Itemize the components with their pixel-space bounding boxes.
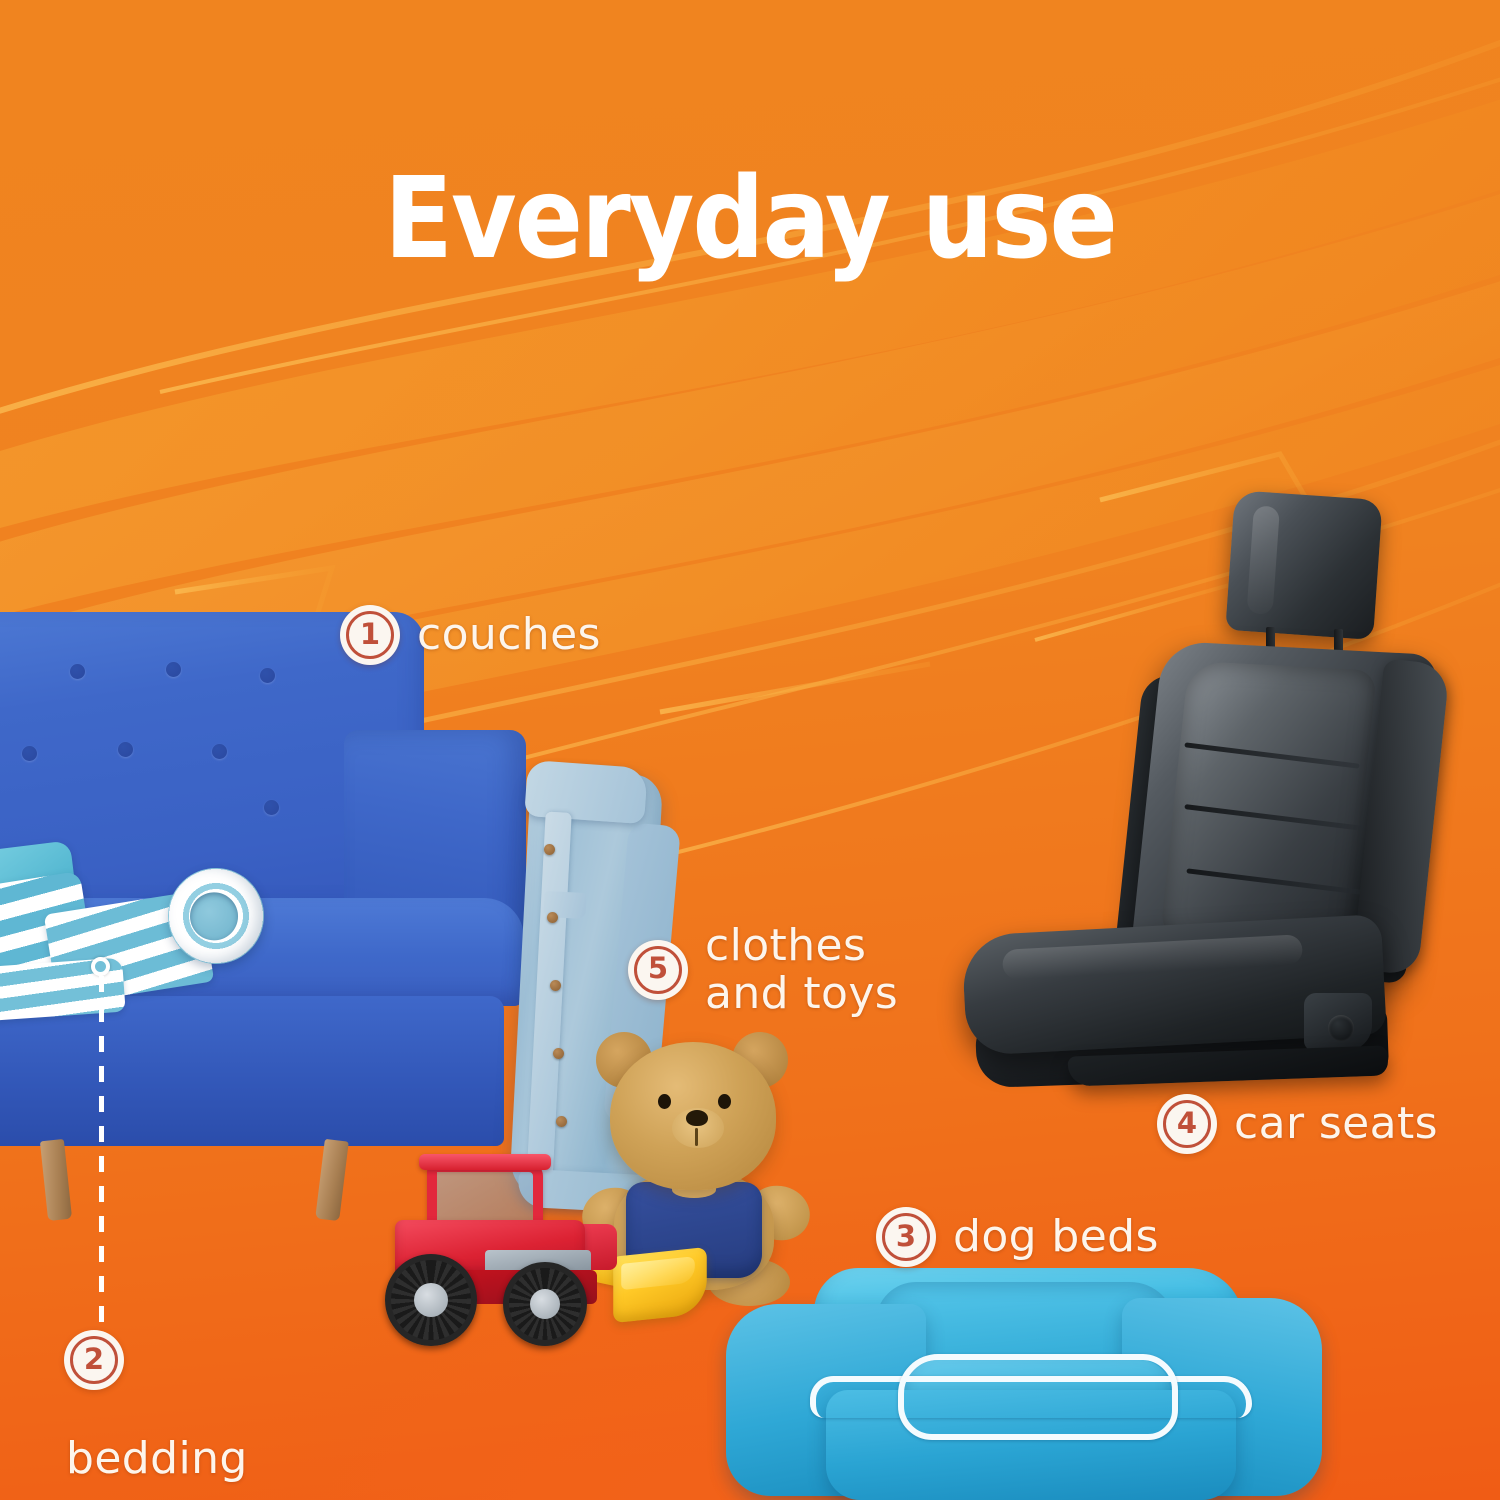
callout-number-3: 3 xyxy=(896,1222,916,1251)
couch-tuft-button xyxy=(70,664,85,679)
couch-base xyxy=(0,996,504,1146)
couch-tuft-button xyxy=(212,744,227,759)
callout-badge-3[interactable]: 3 xyxy=(876,1207,936,1267)
couch-tuft-button xyxy=(22,746,37,761)
bedding-anchor-marker xyxy=(91,957,110,976)
callout-badge-4[interactable]: 4 xyxy=(1157,1094,1217,1154)
tractor-front-wheel xyxy=(503,1262,587,1346)
couch-leg xyxy=(315,1139,349,1221)
car-seat-recliner-knob xyxy=(1328,1015,1354,1041)
callout-bedding[interactable]: 2 bedding xyxy=(62,1330,248,1483)
teddy-eye-left xyxy=(658,1094,671,1109)
tractor-roof xyxy=(419,1154,551,1170)
callout-clothes-and-toys[interactable]: 5 clothes and toys xyxy=(628,922,898,1017)
callout-number-5: 5 xyxy=(648,954,668,983)
dog-bed-piping-cushion xyxy=(898,1354,1178,1440)
callout-number-4: 4 xyxy=(1177,1109,1197,1138)
callout-label-car-seats: car seats xyxy=(1234,1101,1438,1148)
callout-dog-beds[interactable]: 3 dog beds xyxy=(876,1207,1159,1267)
promo-graphic-canvas: Everyday use xyxy=(0,0,1500,1500)
callout-number-1: 1 xyxy=(360,620,380,649)
couch-tuft-button xyxy=(264,800,279,815)
callout-car-seats[interactable]: 4 car seats xyxy=(1157,1094,1438,1154)
callout-badge-5[interactable]: 5 xyxy=(628,940,688,1000)
dog-bed-illustration xyxy=(726,1268,1322,1500)
callout-label-clothes-and-toys: clothes and toys xyxy=(705,922,898,1017)
jacket-button xyxy=(547,912,558,923)
callout-label-couches: couches xyxy=(417,612,601,659)
couch-tuft-button xyxy=(118,742,133,757)
jacket-collar xyxy=(524,760,648,824)
callout-number-2: 2 xyxy=(84,1345,104,1374)
teddy-eye-right xyxy=(718,1094,731,1109)
tractor-hubcap xyxy=(414,1283,448,1317)
callout-label-line-1: clothes xyxy=(705,922,898,970)
callout-badge-2[interactable]: 2 xyxy=(64,1330,124,1390)
callout-badge-1[interactable]: 1 xyxy=(340,605,400,665)
jacket-button xyxy=(544,844,555,855)
tractor-hubcap xyxy=(530,1289,560,1319)
callout-label-bedding: bedding xyxy=(66,1436,248,1483)
couch-leg xyxy=(40,1139,72,1221)
page-title: Everyday use xyxy=(0,163,1500,275)
teddy-mouth xyxy=(695,1128,698,1146)
callout-label-dog-beds: dog beds xyxy=(953,1214,1159,1261)
callout-couches[interactable]: 1 couches xyxy=(340,605,601,665)
bedding-dashed-line xyxy=(99,976,104,1331)
tractor-rear-wheel xyxy=(385,1254,477,1346)
car-seat-headrest xyxy=(1225,490,1382,640)
teddy-nose xyxy=(686,1110,708,1126)
car-seat-illustration xyxy=(948,495,1448,1105)
jacket-button xyxy=(550,980,561,991)
callout-label-line-2: and toys xyxy=(705,970,898,1018)
toy-tractor-illustration xyxy=(375,1158,715,1348)
couch-tuft-button xyxy=(260,668,275,683)
tractor-loader-bucket xyxy=(613,1247,706,1323)
jacket-button xyxy=(553,1048,564,1059)
couch-tuft-button xyxy=(166,662,181,677)
swoosh-dash-mid xyxy=(660,664,930,712)
